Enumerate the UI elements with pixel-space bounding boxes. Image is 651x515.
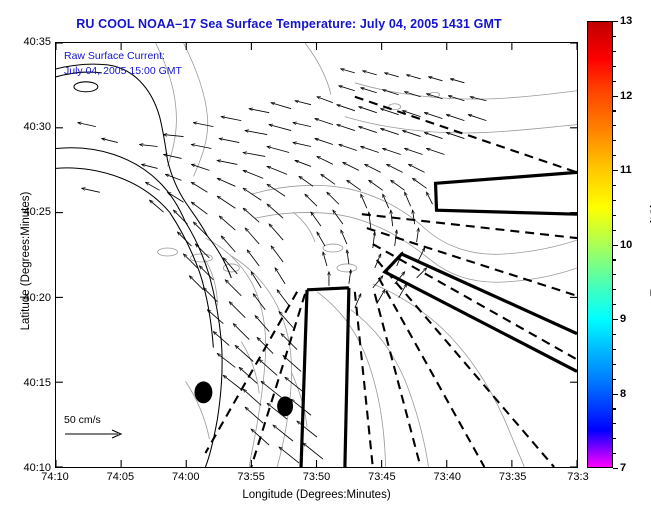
colorbar-minor-tick [613,110,616,111]
colorbar-tick-label: 7 [620,462,626,474]
colorbar-minor-tick [613,334,616,335]
colorbar-tick-label: 13 [620,15,632,27]
x-tick-label: 73:50 [303,471,331,483]
colorbar-minor-tick [613,66,616,67]
colorbar-minor-tick [613,408,616,409]
colorbar [587,21,613,468]
colorbar-minor-tick [613,349,616,350]
colorbar-tick-label: 8 [620,388,626,400]
colorbar-tick-mark [613,319,618,320]
colorbar-minor-tick [613,36,616,37]
colorbar-tick-mark [613,394,618,395]
colorbar-minor-tick [613,289,616,290]
x-axis-title: Longitude (Degrees:Minutes) [55,489,578,501]
x-tick-label: 73:55 [237,471,265,483]
colorbar-minor-tick [613,259,616,260]
colorbar-minor-tick [613,125,616,126]
radar-beam-sectors-solid [301,172,577,467]
radar-site-marker [277,396,293,416]
axis-tick-marks [56,43,577,467]
colorbar-minor-tick [613,438,616,439]
colorbar-tick-label: 12 [620,90,632,102]
colorbar-minor-tick [613,185,616,186]
colorbar-tick-label: 9 [620,313,626,325]
y-tick-label: 40:30 [23,121,51,133]
colorbar-minor-tick [613,155,616,156]
colorbar-tick-mark [613,170,618,171]
x-tick-label: 73:3 [567,471,588,483]
colorbar-minor-tick [613,364,616,365]
colorbar-minor-tick [613,423,616,424]
y-axis-title: Latitude (Degrees:Minutes) [20,151,32,371]
colorbar-minor-tick [613,140,616,141]
colorbar-minor-tick [613,274,616,275]
y-tick-label: 40:10 [23,462,51,474]
colorbar-minor-tick [613,230,616,231]
x-tick-label: 73:45 [368,471,396,483]
colorbar-tick-label: 11 [620,164,632,176]
figure-canvas: RU COOL NOAA–17 Sea Surface Temperature:… [0,0,651,515]
colorbar-minor-tick [613,453,616,454]
colorbar-minor-tick [613,215,616,216]
colorbar-minor-tick [613,81,616,82]
colorbar-minor-tick [613,200,616,201]
x-tick-label: 73:40 [433,471,461,483]
colorbar-tick-mark [613,21,618,22]
colorbar-minor-tick [613,379,616,380]
colorbar-minor-tick [613,51,616,52]
x-tick-label: 73:35 [499,471,527,483]
map-plot-area[interactable]: Raw Surface Current: July 04, 2005 15:00… [55,42,578,468]
y-tick-label: 40:35 [23,36,51,48]
x-tick-label: 74:05 [107,471,135,483]
colorbar-minor-tick [613,304,616,305]
colorbar-tick-label: 10 [620,239,632,251]
colorbar-tick-mark [613,245,618,246]
map-vector-graphics [56,43,577,467]
y-tick-label: 40:15 [23,377,51,389]
figure-title: RU COOL NOAA–17 Sea Surface Temperature:… [0,17,578,31]
colorbar-tick-mark [613,468,618,469]
x-tick-label: 74:00 [172,471,200,483]
colorbar-tick-mark [613,96,618,97]
radar-site-marker [194,381,212,403]
